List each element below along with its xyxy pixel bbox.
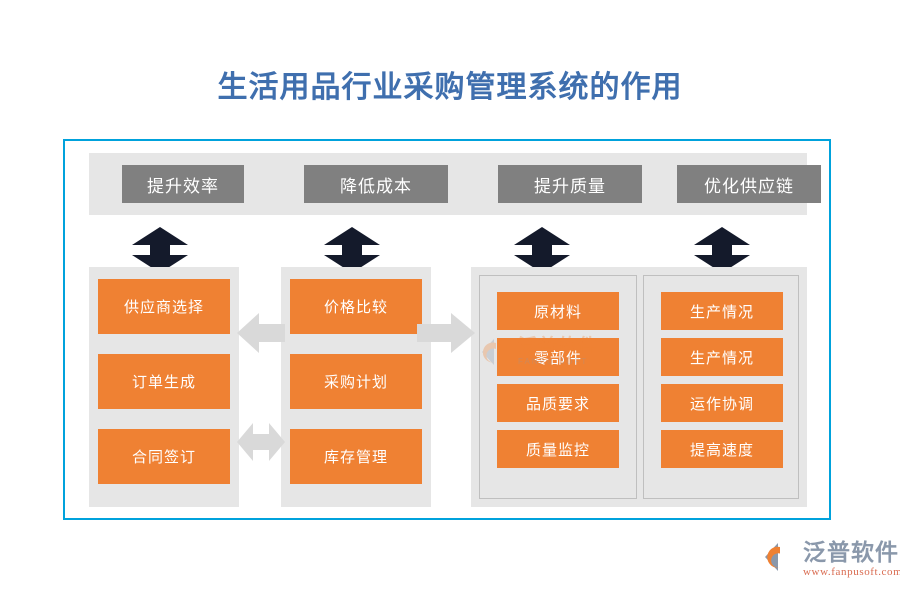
column-subpanel-supply-chain: 生产情况 生产情况 运作协调 提高速度: [643, 275, 799, 499]
item-box-contract-signing[interactable]: 合同签订: [98, 429, 230, 484]
item-box-raw-material[interactable]: 原材料: [497, 292, 619, 330]
item-box-purchase-plan[interactable]: 采购计划: [290, 354, 422, 409]
header-box-optimize-supply-chain[interactable]: 优化供应链: [677, 165, 821, 203]
item-box-quality-requirement[interactable]: 品质要求: [497, 384, 619, 422]
header-band: 提升效率 降低成本 提升质量 优化供应链: [89, 153, 807, 215]
item-box-order-generation[interactable]: 订单生成: [98, 354, 230, 409]
fanpu-brand-icon: [763, 541, 799, 573]
header-box-reduce-cost[interactable]: 降低成本: [304, 165, 448, 203]
left-arrow-icon: [237, 309, 285, 357]
brand-url: www.fanpusoft.com: [803, 565, 900, 579]
column-subpanel-quality: 原材料 零部件 品质要求 质量监控: [479, 275, 637, 499]
item-box-supplier-selection[interactable]: 供应商选择: [98, 279, 230, 334]
diagram-frame: 提升效率 降低成本 提升质量 优化供应链 供应商选择 订单生成 合同签订 价格比…: [63, 139, 831, 520]
brand-logo: 泛普软件 www.fanpusoft.com: [763, 540, 895, 590]
item-box-production-status-2[interactable]: 生产情况: [661, 338, 783, 376]
page-title: 生活用品行业采购管理系统的作用: [0, 68, 900, 108]
item-box-price-comparison[interactable]: 价格比较: [290, 279, 422, 334]
column-panel-group-quality-supply: 原材料 零部件 品质要求 质量监控 生产情况 生产情况 运作协调 提高速度: [471, 267, 807, 507]
item-box-production-status-1[interactable]: 生产情况: [661, 292, 783, 330]
horizontal-double-arrow-icon: [237, 421, 285, 463]
brand-name: 泛普软件: [803, 540, 900, 565]
item-box-operation-coordination[interactable]: 运作协调: [661, 384, 783, 422]
header-box-improve-quality[interactable]: 提升质量: [498, 165, 642, 203]
item-box-quality-monitoring[interactable]: 质量监控: [497, 430, 619, 468]
column-panel-supplier: 供应商选择 订单生成 合同签订: [89, 267, 239, 507]
item-box-components[interactable]: 零部件: [497, 338, 619, 376]
header-box-improve-efficiency[interactable]: 提升效率: [122, 165, 244, 203]
item-box-inventory-management[interactable]: 库存管理: [290, 429, 422, 484]
column-panel-cost: 价格比较 采购计划 库存管理: [281, 267, 431, 507]
item-box-speed-improvement[interactable]: 提高速度: [661, 430, 783, 468]
right-arrow-icon: [417, 309, 475, 357]
